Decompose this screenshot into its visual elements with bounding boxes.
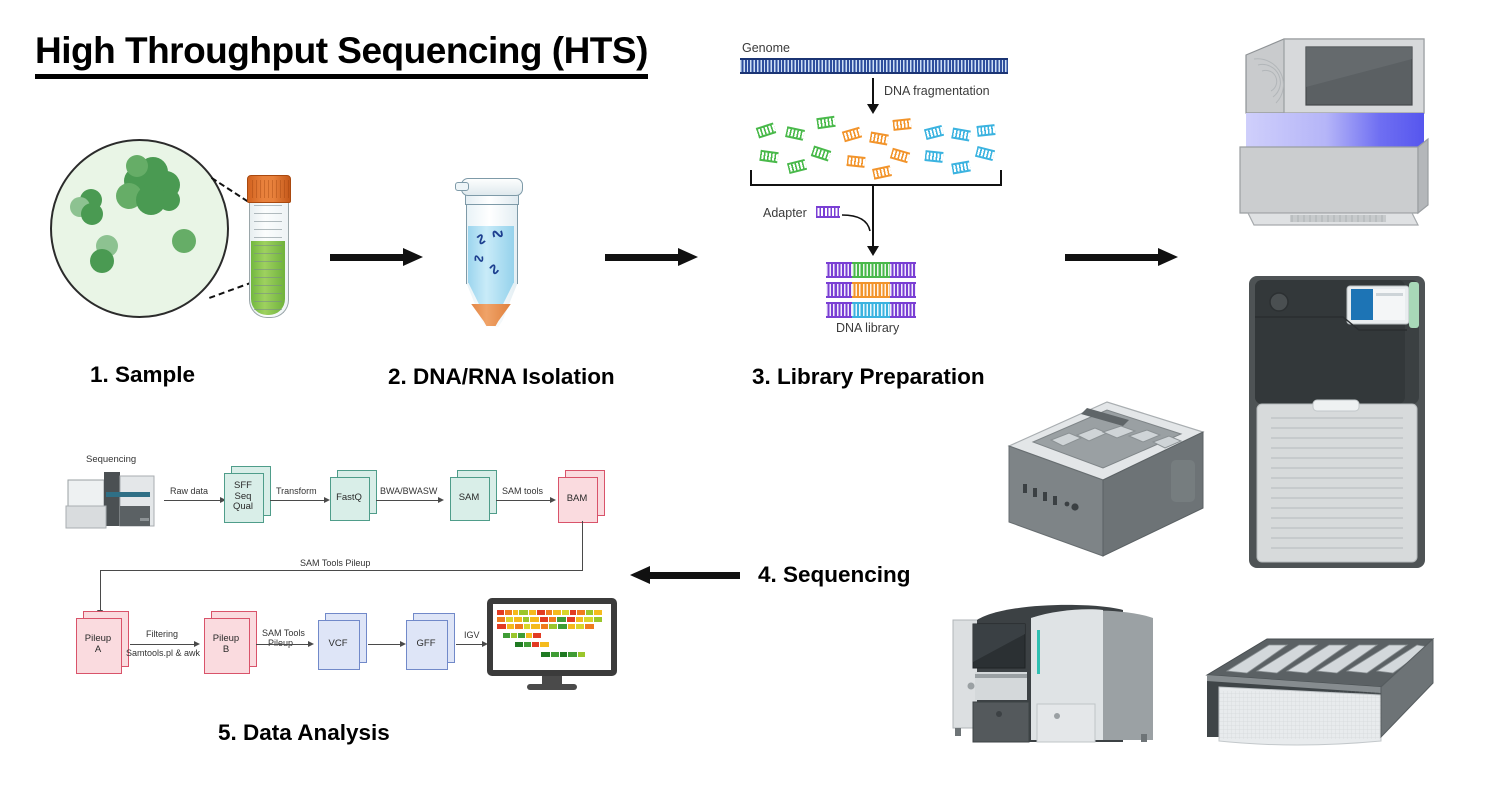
sequencing-machine-caption: Sequencing <box>86 454 136 465</box>
fragmentation-label: DNA fragmentation <box>884 84 990 98</box>
arrow-library-to-sequencing <box>1065 248 1180 266</box>
edge-label-pileup2-line1: SAM Tools <box>262 628 305 638</box>
edge-transform <box>270 500 326 501</box>
eppendorf-tube: ∿ ∿ ∿ ∿ <box>455 178 527 328</box>
library-strand-orange <box>826 282 916 294</box>
pooling-bracket <box>750 170 1002 186</box>
edge-label-pileup-top: SAM Tools Pileup <box>300 558 370 568</box>
edge-label-igv: IGV <box>464 630 480 640</box>
falcon-tube <box>245 175 291 318</box>
step-label-isolation: 2. DNA/RNA Isolation <box>388 364 615 390</box>
dna-library-label: DNA library <box>836 321 899 335</box>
arrowhead <box>438 497 444 503</box>
adapter-icon <box>816 207 840 217</box>
ligation-arrow <box>866 206 880 258</box>
node-sam-label: SAM <box>459 493 480 504</box>
step-label-library: 3. Library Preparation <box>752 364 985 390</box>
large-sequencer-teal-stripe <box>945 600 1175 760</box>
colony <box>158 189 180 211</box>
edge-label-pileup2-line2: Pileup <box>268 638 293 648</box>
cube-thermocycler <box>995 388 1210 568</box>
fragmentation-arrow <box>866 78 880 116</box>
library-strand-green <box>826 262 916 274</box>
diagram-canvas: High Throughput Sequencing (HTS) 1. Samp… <box>0 0 1500 786</box>
edge-vcf-to-gff <box>368 644 402 645</box>
node-gff-label: GFF <box>417 639 436 650</box>
arrowhead <box>550 497 556 503</box>
edge-label-filtering: Filtering <box>146 629 178 639</box>
step-label-analysis: 5. Data Analysis <box>218 720 390 746</box>
edge-filtering <box>130 644 196 645</box>
edge-label-transform: Transform <box>276 486 317 496</box>
node-fastq-label: FastQ <box>336 493 362 504</box>
node-gff[interactable]: GFF <box>406 620 446 668</box>
node-pileup-b[interactable]: Pileup B <box>204 618 248 672</box>
arrowhead <box>194 641 200 647</box>
colony <box>81 203 103 225</box>
step-label-sequencing: 4. Sequencing <box>758 562 911 588</box>
small-sequencer-icon <box>62 466 158 536</box>
colony <box>172 229 196 253</box>
edge-label-awk: Samtools.pl & awk <box>126 648 200 658</box>
adapter-label: Adapter <box>763 206 807 220</box>
igv-monitor <box>487 598 617 690</box>
edge-pileup2 <box>256 644 310 645</box>
page-title: High Throughput Sequencing (HTS) <box>35 32 648 79</box>
library-strand-blue <box>826 302 916 314</box>
node-pileup-a[interactable]: Pileup A <box>76 618 120 672</box>
petri-dish <box>50 139 229 318</box>
node-pileup-a-line2: A <box>95 645 101 656</box>
edge-bwa <box>376 500 440 501</box>
node-sff[interactable]: SFF Seq Qual <box>224 473 262 521</box>
arrow-isolation-to-library <box>605 248 700 266</box>
arrowhead <box>308 641 314 647</box>
node-bam[interactable]: BAM <box>558 477 596 521</box>
colony <box>126 155 148 177</box>
edge-label-raw-data: Raw data <box>170 486 208 496</box>
node-vcf[interactable]: VCF <box>318 620 358 668</box>
step-label-sample: 1. Sample <box>90 362 195 388</box>
node-vcf-label: VCF <box>329 639 348 650</box>
node-sff-line1: SFF <box>234 481 252 492</box>
edge-pileup-down <box>100 570 101 612</box>
colony <box>90 249 114 273</box>
flat-slot-sequencer <box>1195 625 1445 755</box>
edge-samtools <box>496 500 552 501</box>
benchtop-sequencer-blue-glow <box>1232 25 1432 240</box>
node-pileup-b-line2: B <box>223 645 229 656</box>
edge-bam-down <box>582 521 583 571</box>
edge-igv <box>456 644 484 645</box>
tall-sequencer <box>1243 272 1433 572</box>
arrow-sequencing-to-analysis <box>630 566 740 584</box>
node-sam[interactable]: SAM <box>450 477 488 519</box>
node-bam-label: BAM <box>567 494 588 505</box>
bracket-stem <box>872 184 874 206</box>
edge-label-samtools: SAM tools <box>502 486 543 496</box>
edge-pileup-horizontal <box>100 570 583 571</box>
edge-raw-data <box>164 500 222 501</box>
arrow-sample-to-isolation <box>330 248 425 266</box>
igv-screen <box>493 604 611 670</box>
node-fastq[interactable]: FastQ <box>330 477 368 519</box>
edge-label-bwa: BWA/BWASW <box>380 486 437 496</box>
genome-label: Genome <box>742 41 790 55</box>
node-sff-line3: Qual <box>233 502 253 513</box>
genome-strand <box>740 58 1008 74</box>
